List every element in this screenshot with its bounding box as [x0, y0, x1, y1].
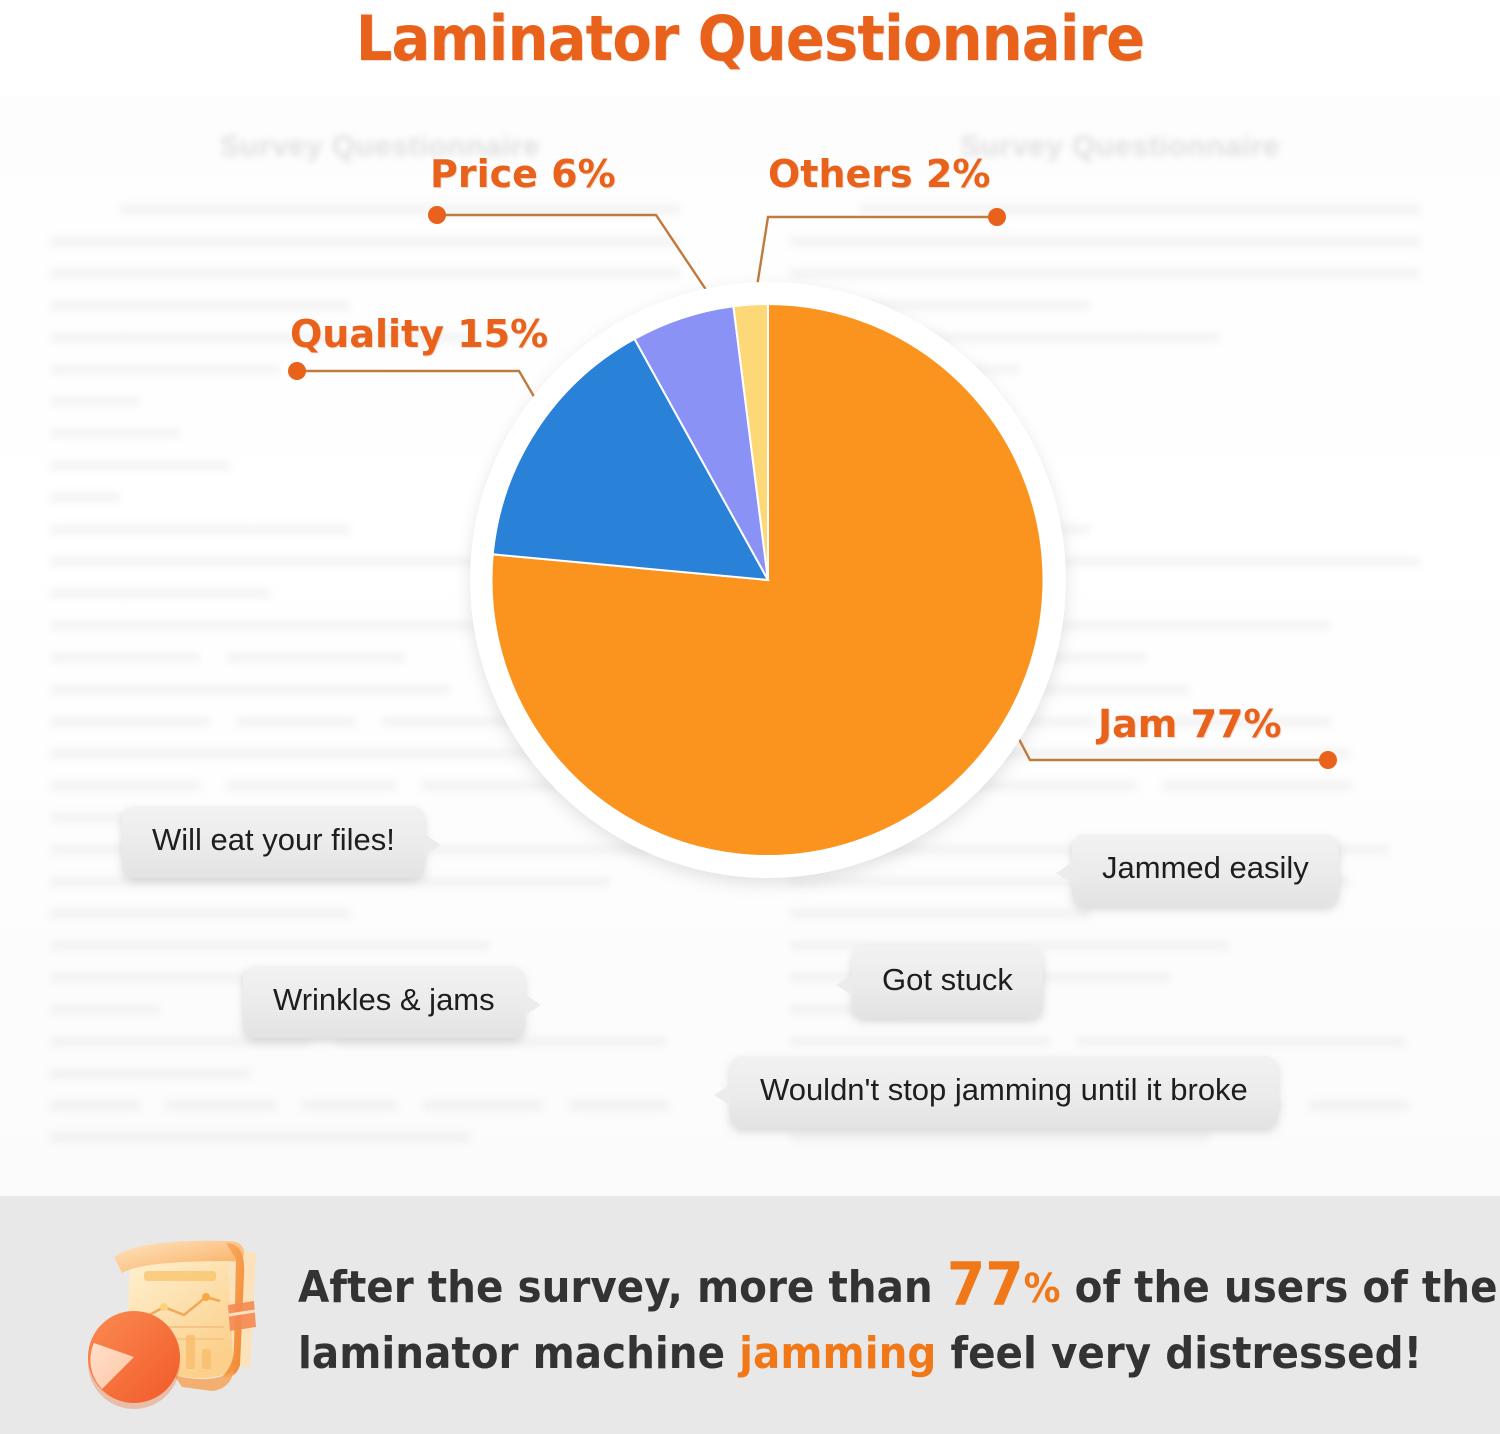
review-bubble: Jammed easily — [1072, 834, 1339, 906]
page-title: Laminator Questionnaire — [53, 2, 1448, 75]
callout-label-jam: Jam 77% — [1098, 702, 1282, 746]
pie-slices — [480, 292, 1056, 868]
summary-line1-b: of the users of the — [1061, 1262, 1498, 1313]
pie-chart — [470, 282, 1066, 878]
infographic-canvas: Survey Questionnaire — [0, 0, 1500, 1434]
summary-line2-a: laminator machine — [298, 1328, 739, 1379]
summary-text: After the survey, more than 77% of the u… — [298, 1247, 1498, 1382]
summary-line2-b: feel very distressed! — [936, 1328, 1422, 1379]
review-bubble: Will eat your files! — [122, 806, 425, 878]
review-bubble: Got stuck — [852, 946, 1043, 1018]
summary-line1-a: After the survey, more than — [298, 1262, 947, 1313]
summary-line-2: laminator machine jamming feel very dist… — [298, 1326, 1498, 1382]
report-chart-icon — [78, 1215, 288, 1415]
summary-line-1: After the survey, more than 77% of the u… — [298, 1247, 1498, 1324]
summary-percent-sign: % — [1024, 1266, 1061, 1312]
review-bubble: Wrinkles & jams — [243, 966, 525, 1038]
callout-label-quality: Quality 15% — [290, 312, 548, 356]
background-doc-title: Survey Questionnaire — [20, 130, 740, 164]
review-bubble: Wouldn't stop jamming until it broke — [730, 1056, 1278, 1128]
callout-label-price: Price 6% — [430, 152, 616, 196]
summary-highlight-word: jamming — [739, 1328, 936, 1379]
callout-label-others: Others 2% — [768, 152, 990, 196]
summary-big-number: 77 — [947, 1250, 1024, 1320]
summary-banner: After the survey, more than 77% of the u… — [0, 1196, 1500, 1434]
